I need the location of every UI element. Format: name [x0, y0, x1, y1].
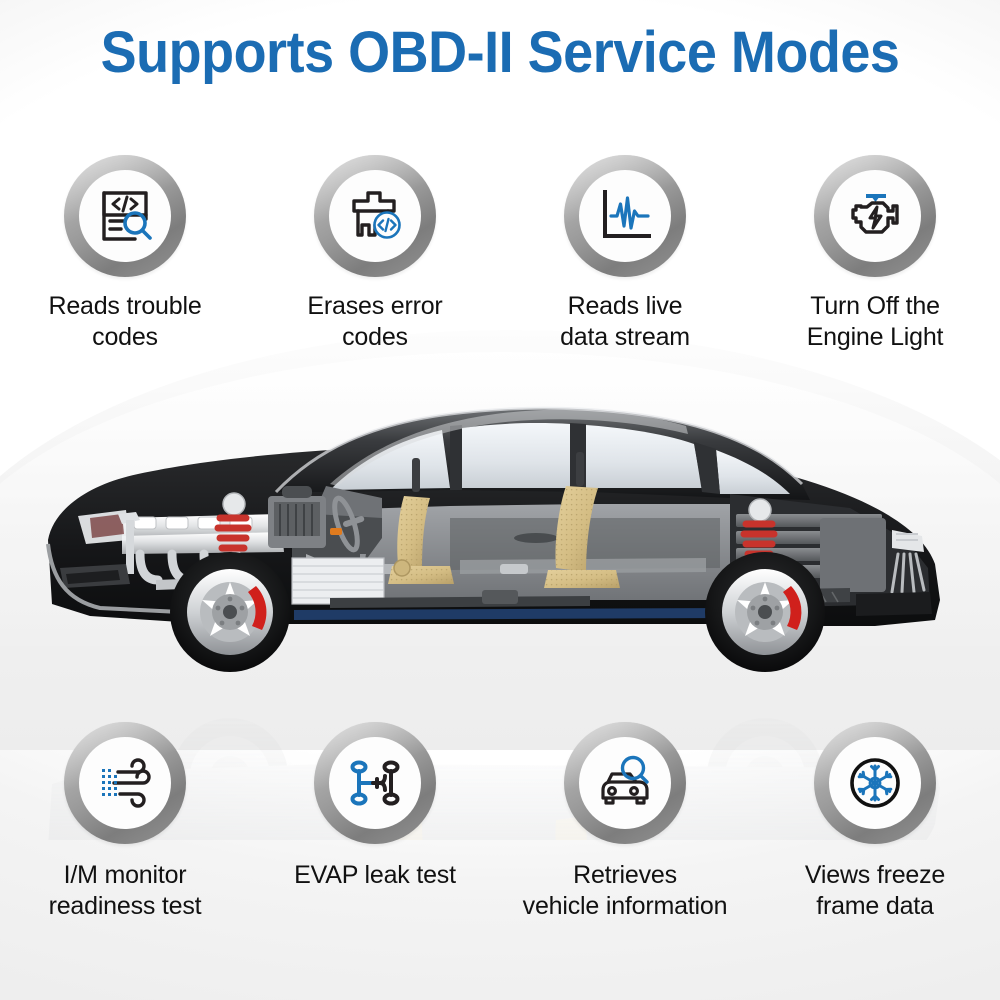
axle-chassis-icon: [344, 752, 406, 814]
icon-ring: [64, 155, 186, 277]
cutaway-sedan-illustration: [30, 368, 970, 698]
ring-inner: [329, 170, 421, 262]
eraser-code-icon: [344, 185, 406, 247]
ring-inner: [579, 170, 671, 262]
rear-wheel: [705, 552, 825, 672]
ring-inner: [829, 170, 921, 262]
engine-bolt-icon: [844, 185, 906, 247]
feature-label: Turn Off the Engine Light: [807, 291, 944, 353]
features-row-bottom: I/M monitor readiness test: [0, 722, 1000, 922]
feature-retrieves-vehicle-information[interactable]: Retrieves vehicle information: [500, 722, 750, 922]
infographic-page: Supports OBD-II Service Modes: [0, 0, 1000, 1000]
feature-views-freeze-frame-data[interactable]: Views freeze frame data: [750, 722, 1000, 922]
feature-label: I/M monitor readiness test: [49, 860, 202, 922]
icon-ring: [564, 155, 686, 277]
feature-erases-error-codes[interactable]: Erases error codes: [250, 155, 500, 353]
icon-ring: [814, 722, 936, 844]
feature-im-monitor-readiness-test[interactable]: I/M monitor readiness test: [0, 722, 250, 922]
icon-ring: [564, 722, 686, 844]
icon-ring: [64, 722, 186, 844]
emission-wind-icon: [94, 752, 156, 814]
feature-label: Reads live data stream: [560, 291, 690, 353]
radiator: [292, 558, 384, 604]
feature-label: EVAP leak test: [294, 860, 456, 891]
icon-ring: [314, 722, 436, 844]
feature-label: Erases error codes: [307, 291, 442, 353]
car-magnifier-icon: [594, 752, 656, 814]
feature-evap-leak-test[interactable]: EVAP leak test: [250, 722, 500, 922]
ring-inner: [829, 737, 921, 829]
feature-reads-trouble-codes[interactable]: Reads trouble codes: [0, 155, 250, 353]
ring-inner: [79, 737, 171, 829]
icon-ring: [314, 155, 436, 277]
page-title: Supports OBD-II Service Modes: [35, 22, 965, 84]
features-row-top: Reads trouble codes: [0, 155, 1000, 353]
icon-ring: [814, 155, 936, 277]
feature-label: Retrieves vehicle information: [523, 860, 728, 922]
document-code-search-icon: [94, 185, 156, 247]
feature-label: Views freeze frame data: [805, 860, 945, 922]
waveform-graph-icon: [594, 185, 656, 247]
snowflake-icon: [844, 752, 906, 814]
feature-reads-live-data-stream[interactable]: Reads live data stream: [500, 155, 750, 353]
ring-inner: [79, 170, 171, 262]
ring-inner: [329, 737, 421, 829]
ring-inner: [579, 737, 671, 829]
feature-turn-off-engine-light[interactable]: Turn Off the Engine Light: [750, 155, 1000, 353]
front-wheel: [170, 552, 290, 672]
feature-label: Reads trouble codes: [48, 291, 201, 353]
